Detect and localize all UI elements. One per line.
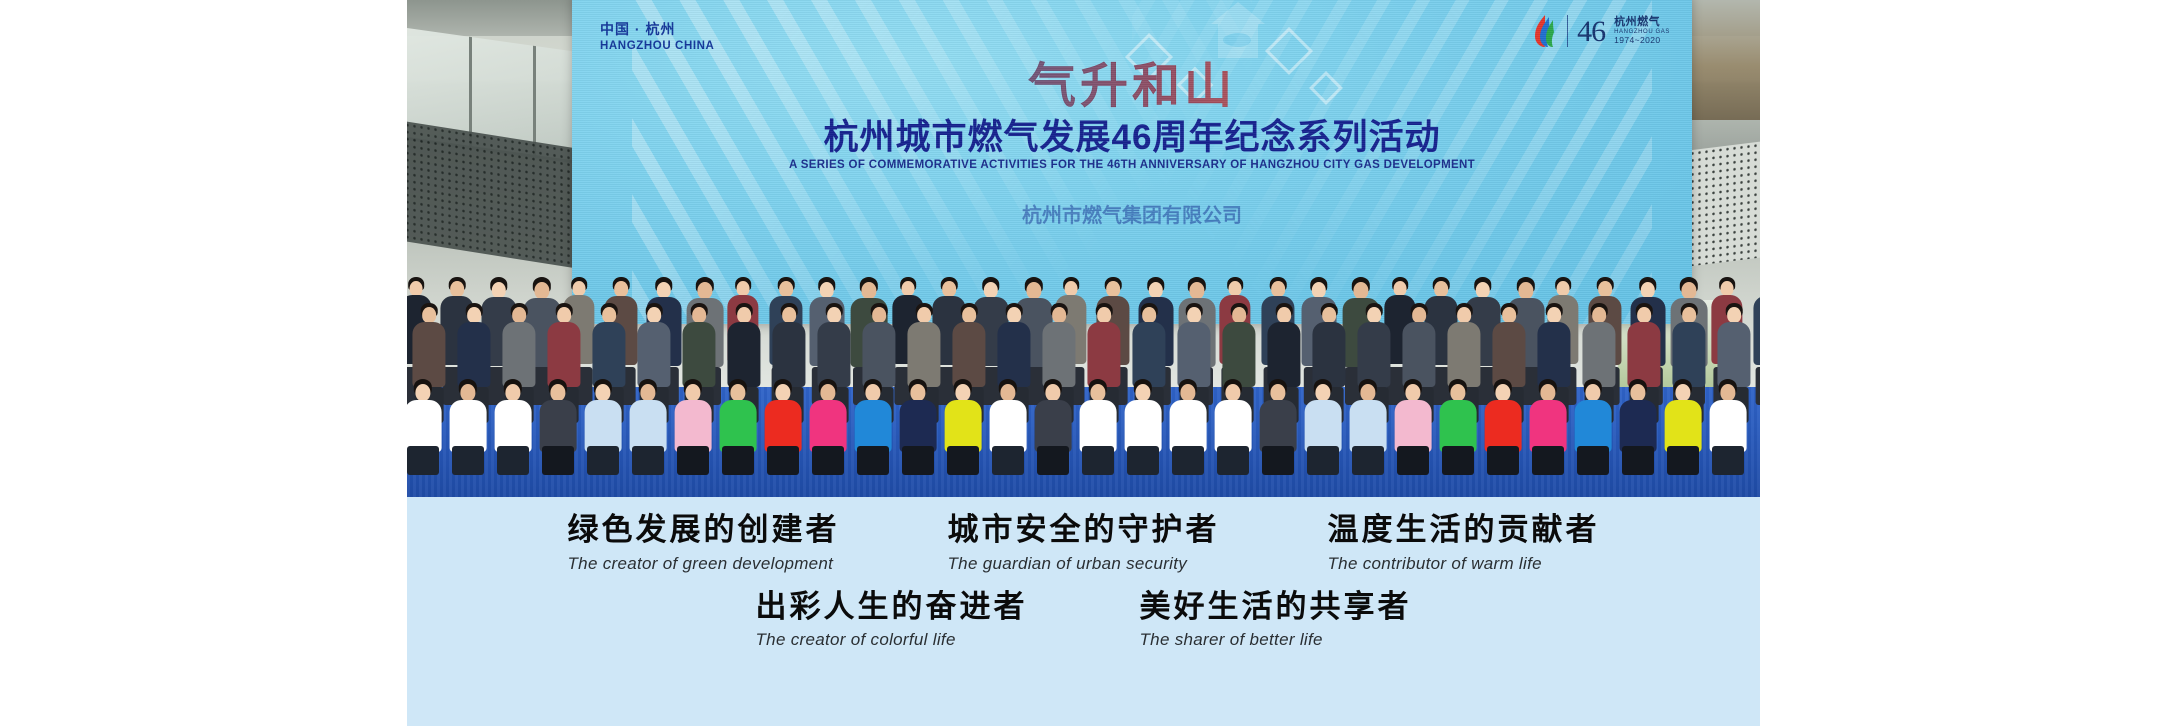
torso (765, 400, 802, 452)
head (415, 384, 430, 402)
head (1045, 384, 1060, 402)
torso (862, 322, 895, 387)
head (820, 282, 834, 299)
slogan-item: 美好生活的共享者 The sharer of better life (1140, 590, 1412, 651)
torso (1170, 400, 1207, 452)
head (1681, 282, 1696, 300)
torso (1620, 400, 1657, 452)
torso (547, 322, 580, 387)
head (865, 384, 880, 402)
torso (1042, 322, 1075, 387)
event-title-cn: 杭州城市燃气发展46周年纪念系列活动 (572, 109, 1692, 160)
legs (1127, 446, 1159, 475)
legs (1756, 367, 1760, 405)
torso (1215, 400, 1252, 452)
torso (1087, 322, 1120, 387)
location-cn: 中国 · 杭州 (600, 20, 714, 39)
head (861, 282, 876, 300)
torso (1132, 322, 1165, 387)
logo-years: 1974~2020 (1614, 36, 1670, 46)
legs (497, 446, 529, 475)
torso (1035, 400, 1072, 452)
legs (452, 446, 484, 475)
torso (1177, 322, 1210, 387)
head (640, 384, 655, 402)
legs (947, 446, 979, 475)
slogan-section: 绿色发展的创建者 The creator of green developmen… (407, 497, 1760, 726)
torso (1350, 400, 1387, 452)
person (1123, 379, 1163, 475)
torso (772, 322, 805, 387)
torso (592, 322, 625, 387)
torso (1312, 322, 1345, 387)
legs (1712, 446, 1744, 475)
person (1483, 379, 1523, 475)
head (1135, 384, 1150, 402)
slogan-item: 出彩人生的奋进者 The creator of colorful life (756, 590, 1028, 651)
torso (502, 322, 535, 387)
torso (1717, 322, 1750, 387)
person (1213, 379, 1253, 475)
head (657, 282, 671, 299)
head (1495, 384, 1510, 402)
legs (1397, 446, 1429, 475)
person (1258, 379, 1298, 475)
legs (587, 446, 619, 475)
person (493, 379, 533, 475)
head (697, 282, 712, 300)
person (1708, 379, 1748, 475)
logo-divider (1567, 15, 1568, 47)
head (1026, 282, 1041, 300)
head (984, 282, 998, 299)
person (583, 379, 623, 475)
head (550, 384, 565, 402)
torso (412, 322, 445, 387)
person (407, 379, 443, 475)
head (1353, 282, 1368, 300)
slogan-row-2: 出彩人生的奋进者 The creator of colorful life 美好… (407, 574, 1760, 651)
torso (855, 400, 892, 452)
torso (1080, 400, 1117, 452)
slogan-en: The contributor of warm life (1328, 554, 1600, 574)
torso (1485, 400, 1522, 452)
event-group-photo: 中国 · 杭州 HANGZHOU CHINA 46 杭州燃气 HANGZHOU … (407, 0, 1760, 497)
head (1675, 384, 1690, 402)
slogan-item: 城市安全的守护者 The guardian of urban security (948, 513, 1220, 574)
legs (1172, 446, 1204, 475)
logo-number: 46 (1577, 17, 1605, 47)
head (1405, 384, 1420, 402)
legs (677, 446, 709, 475)
torso (1125, 400, 1162, 452)
slogan-cn: 绿色发展的创建者 (568, 513, 840, 549)
brand-wordmark: 气升和山 (572, 46, 1692, 116)
torso (1582, 322, 1615, 387)
torso (727, 322, 760, 387)
torso (1492, 322, 1525, 387)
legs (1307, 446, 1339, 475)
head (910, 384, 925, 402)
person (1033, 379, 1073, 475)
head (685, 384, 700, 402)
person (808, 379, 848, 475)
torso (407, 400, 441, 452)
legs (1667, 446, 1699, 475)
slogan-cn: 温度生活的贡献者 (1328, 513, 1600, 549)
head (505, 384, 520, 402)
legs (1352, 446, 1384, 475)
person (1078, 379, 1118, 475)
slogan-row-1: 绿色发展的创建者 The creator of green developmen… (407, 497, 1760, 574)
head (1518, 282, 1533, 300)
person (448, 379, 488, 475)
person (673, 379, 713, 475)
head (1225, 384, 1240, 402)
torso (900, 400, 937, 452)
torso (1575, 400, 1612, 452)
legs (1262, 446, 1294, 475)
head (1476, 282, 1490, 299)
head (595, 384, 610, 402)
head (1270, 384, 1285, 402)
torso (1305, 400, 1342, 452)
torso (1753, 296, 1760, 365)
legs (722, 446, 754, 475)
head (460, 384, 475, 402)
torso (540, 400, 577, 452)
torso (1627, 322, 1660, 387)
head (492, 282, 506, 299)
anniversary-banner: 中国 · 杭州 HANGZHOU CHINA 46 杭州燃气 HANGZHOU … (407, 0, 1760, 726)
head (775, 384, 790, 402)
torso (1395, 400, 1432, 452)
legs (992, 446, 1024, 475)
legs (812, 446, 844, 475)
head (1090, 384, 1105, 402)
legs (1442, 446, 1474, 475)
person (988, 379, 1028, 475)
torso (720, 400, 757, 452)
slogan-cn: 美好生活的共享者 (1140, 590, 1412, 626)
hangzhou-gas-logo: 46 杭州燃气 HANGZHOU GAS 1974~2020 (1532, 14, 1670, 48)
person (898, 379, 938, 475)
torso (1260, 400, 1297, 452)
legs (407, 446, 439, 475)
legs (1082, 446, 1114, 475)
head (1450, 384, 1465, 402)
slogan-item: 温度生活的贡献者 The contributor of warm life (1328, 513, 1600, 574)
torso (990, 400, 1027, 452)
head (1000, 384, 1015, 402)
torso (952, 322, 985, 387)
torso (1267, 322, 1300, 387)
torso (907, 322, 940, 387)
person (943, 379, 983, 475)
torso (810, 400, 847, 452)
person (1168, 379, 1208, 475)
person (538, 379, 578, 475)
legs (1622, 446, 1654, 475)
legs (1532, 446, 1564, 475)
head (534, 282, 549, 300)
person (628, 379, 668, 475)
torso (1222, 322, 1255, 387)
head (955, 384, 970, 402)
torso (1665, 400, 1702, 452)
torso (675, 400, 712, 452)
flame-icon (1532, 14, 1558, 48)
head (1641, 282, 1655, 299)
head (1720, 384, 1735, 402)
person (763, 379, 803, 475)
torso (945, 400, 982, 452)
slogan-en: The sharer of better life (1140, 630, 1412, 650)
legs (1217, 446, 1249, 475)
torso (457, 322, 490, 387)
person (1438, 379, 1478, 475)
legs (1487, 446, 1519, 475)
head (1180, 384, 1195, 402)
legs (542, 446, 574, 475)
screenshot-root: 中国 · 杭州 HANGZHOU CHINA 46 杭州燃气 HANGZHOU … (0, 0, 2179, 726)
slogan-en: The creator of green development (568, 554, 840, 574)
head (730, 384, 745, 402)
torso (1710, 400, 1747, 452)
slogan-en: The creator of colorful life (756, 630, 1028, 650)
torso (1530, 400, 1567, 452)
slogan-cn: 城市安全的守护者 (948, 513, 1220, 549)
slogan-en: The guardian of urban security (948, 554, 1220, 574)
torso (682, 322, 715, 387)
person (1752, 277, 1760, 405)
legs (632, 446, 664, 475)
head (1360, 384, 1375, 402)
torso (1537, 322, 1570, 387)
person (1573, 379, 1613, 475)
head (1189, 282, 1204, 300)
torso (495, 400, 532, 452)
torso (1672, 322, 1705, 387)
person (1393, 379, 1433, 475)
person (853, 379, 893, 475)
torso (1357, 322, 1390, 387)
slogan-cn: 出彩人生的奋进者 (756, 590, 1028, 626)
legs (857, 446, 889, 475)
legs (1577, 446, 1609, 475)
head (1540, 384, 1555, 402)
head (1630, 384, 1645, 402)
person (1303, 379, 1343, 475)
legs (902, 446, 934, 475)
torso (585, 400, 622, 452)
person (718, 379, 758, 475)
slogan-item: 绿色发展的创建者 The creator of green developmen… (568, 513, 840, 574)
legs (1037, 446, 1069, 475)
torso (450, 400, 487, 452)
head (1585, 384, 1600, 402)
torso (817, 322, 850, 387)
head (820, 384, 835, 402)
torso (1440, 400, 1477, 452)
head (1149, 282, 1163, 299)
torso (1447, 322, 1480, 387)
person (1528, 379, 1568, 475)
torso (1402, 322, 1435, 387)
crowd-group (407, 167, 1760, 497)
legs (767, 446, 799, 475)
torso (637, 322, 670, 387)
person (1663, 379, 1703, 475)
logo-name-cn: 杭州燃气 (1614, 16, 1670, 29)
head (1312, 282, 1326, 299)
torso (630, 400, 667, 452)
torso (997, 322, 1030, 387)
person (1348, 379, 1388, 475)
person (1618, 379, 1658, 475)
logo-text-block: 杭州燃气 HANGZHOU GAS 1974~2020 (1614, 16, 1670, 45)
head (1315, 384, 1330, 402)
